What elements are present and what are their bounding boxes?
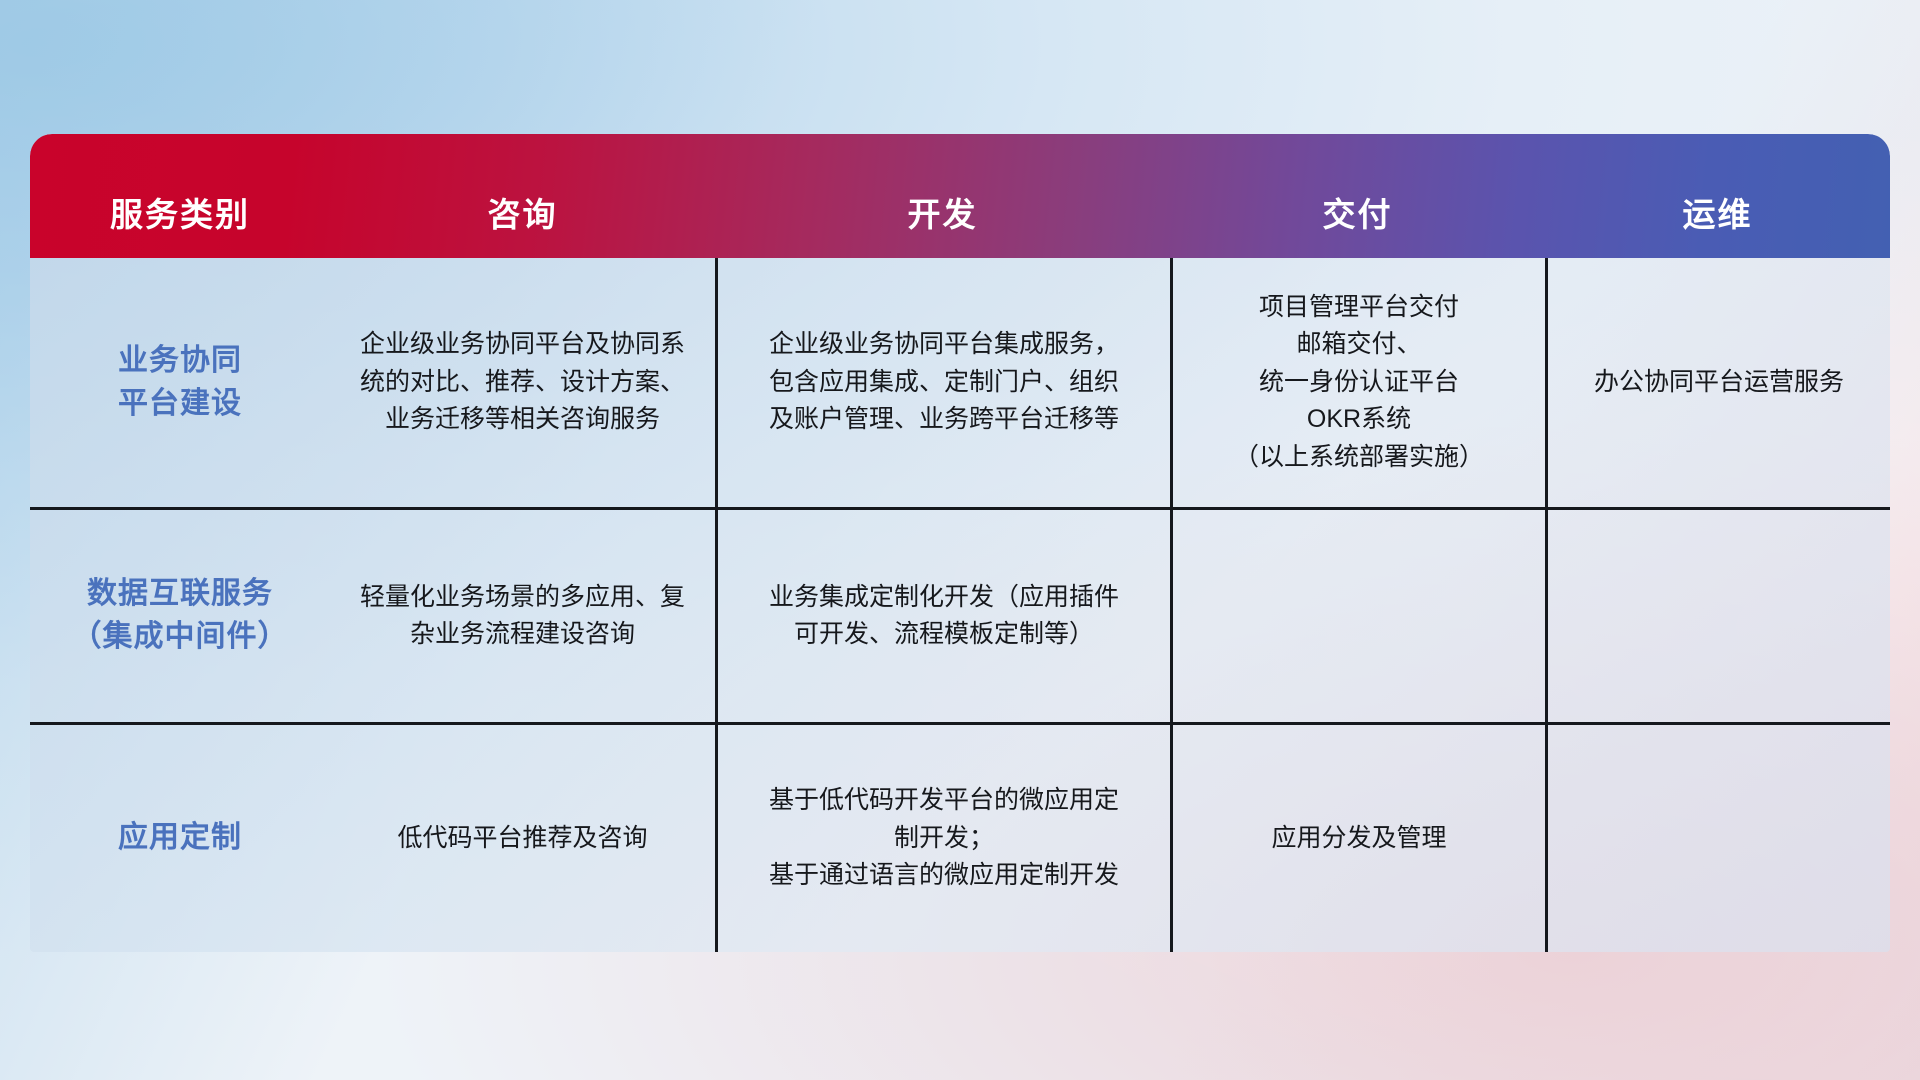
cell-operations-r2 <box>1545 725 1890 952</box>
cell-delivery-r0: 项目管理平台交付 邮箱交付、 统一身份认证平台 OKR系统 （以上系统部署实施） <box>1170 258 1545 507</box>
column-header-development: 开发 <box>715 134 1170 258</box>
cell-consulting-r0: 企业级业务协同平台及协同系 统的对比、推荐、设计方案、 业务迁移等相关咨询服务 <box>330 258 715 507</box>
table-row: 应用定制 低代码平台推荐及咨询 基于低代码开发平台的微应用定 制开发； 基于通过… <box>30 725 1890 952</box>
row-label-data-integration: 数据互联服务 （集成中间件） <box>30 510 330 722</box>
cell-development-r1: 业务集成定制化开发（应用插件 可开发、流程模板定制等） <box>715 510 1170 722</box>
cell-consulting-r1: 轻量化业务场景的多应用、复 杂业务流程建设咨询 <box>330 510 715 722</box>
table-header-row: 服务类别 咨询 开发 交付 运维 <box>30 134 1890 258</box>
cell-development-r2: 基于低代码开发平台的微应用定 制开发； 基于通过语言的微应用定制开发 <box>715 725 1170 952</box>
cell-operations-r1 <box>1545 510 1890 722</box>
cell-consulting-r2: 低代码平台推荐及咨询 <box>330 725 715 952</box>
column-header-delivery: 交付 <box>1170 134 1545 258</box>
column-header-operations: 运维 <box>1545 134 1890 258</box>
table-row: 业务协同 平台建设 企业级业务协同平台及协同系 统的对比、推荐、设计方案、 业务… <box>30 258 1890 510</box>
table-body: 业务协同 平台建设 企业级业务协同平台及协同系 统的对比、推荐、设计方案、 业务… <box>30 258 1890 952</box>
cell-delivery-r1 <box>1170 510 1545 722</box>
slide-canvas: 服务类别 咨询 开发 交付 运维 业务协同 平台建设 企业级业务协同平台及协同系… <box>0 0 1920 1080</box>
service-matrix-table: 服务类别 咨询 开发 交付 运维 业务协同 平台建设 企业级业务协同平台及协同系… <box>30 134 1890 952</box>
table-row: 数据互联服务 （集成中间件） 轻量化业务场景的多应用、复 杂业务流程建设咨询 业… <box>30 510 1890 725</box>
column-header-category: 服务类别 <box>30 134 330 258</box>
cell-development-r0: 企业级业务协同平台集成服务， 包含应用集成、定制门户、组织 及账户管理、业务跨平… <box>715 258 1170 507</box>
cell-operations-r0: 办公协同平台运营服务 <box>1545 258 1890 507</box>
column-header-consulting: 咨询 <box>330 134 715 258</box>
cell-delivery-r2: 应用分发及管理 <box>1170 725 1545 952</box>
row-label-app-customization: 应用定制 <box>30 725 330 952</box>
row-label-business-collaboration: 业务协同 平台建设 <box>30 258 330 507</box>
